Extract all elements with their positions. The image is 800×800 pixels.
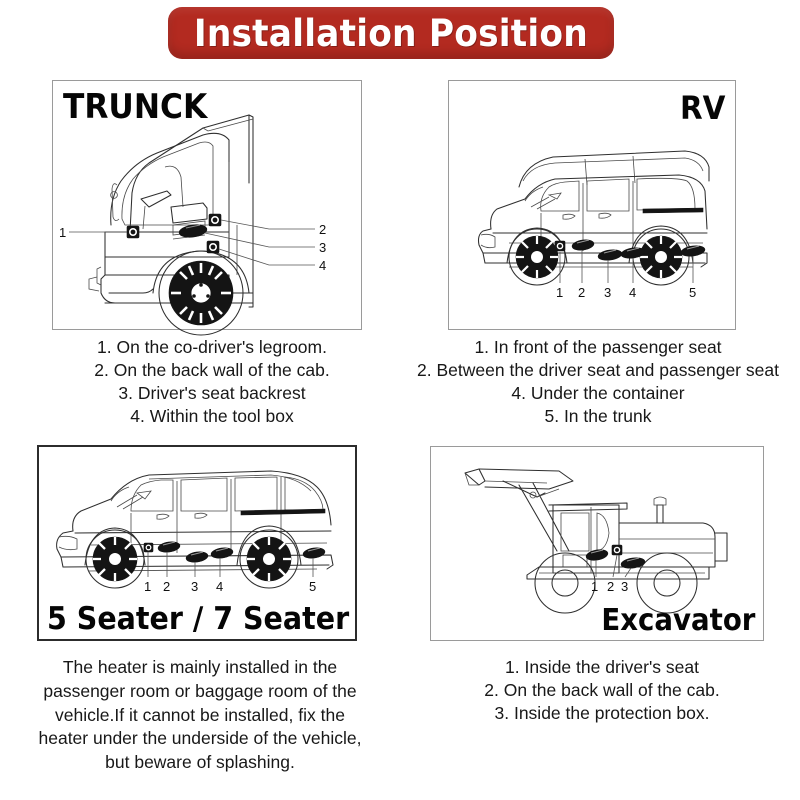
panel-truck-label: TRUNCK <box>63 87 207 127</box>
svg-text:2: 2 <box>607 579 614 594</box>
svg-text:2: 2 <box>163 579 170 594</box>
svg-text:3: 3 <box>604 285 611 300</box>
panel-excavator-label: Excavator <box>601 603 755 638</box>
marker-3: 3 <box>597 248 622 300</box>
truck-illustration: 1 2 3 4 <box>53 107 361 329</box>
caption-line: 1. Inside the driver's seat <box>432 656 772 679</box>
caption-line: 2. Between the driver seat and passenger… <box>400 359 796 382</box>
caption-excavator: 1. Inside the driver's seat 2. On the ba… <box>432 656 772 725</box>
svg-text:5: 5 <box>309 579 316 594</box>
caption-line: The heater is mainly installed in the pa… <box>30 656 370 775</box>
excavator-illustration: 1 2 3 <box>441 455 757 605</box>
marker-2: 2 <box>157 541 180 594</box>
marker-4: 4 <box>620 246 645 300</box>
caption-rv: 1. In front of the passenger seat 2. Bet… <box>400 336 796 428</box>
marker-1: 1 <box>555 241 565 300</box>
marker-2: 2 <box>571 239 594 300</box>
panel-rv: RV <box>448 80 736 330</box>
marker-2: 2 <box>209 214 326 237</box>
marker-1: 1 <box>585 548 608 594</box>
svg-text:3: 3 <box>191 579 198 594</box>
minivan-illustration: 1 2 3 4 <box>45 453 351 603</box>
rv-illustration: 1 2 3 4 <box>453 111 733 321</box>
page-title: Installation Position <box>194 12 588 55</box>
svg-text:3: 3 <box>621 579 628 594</box>
caption-line: 2. On the back wall of the cab. <box>52 359 372 382</box>
panel-rv-label: RV <box>680 89 725 127</box>
svg-text:1: 1 <box>59 225 66 240</box>
svg-text:4: 4 <box>629 285 636 300</box>
page-title-banner: Installation Position <box>168 7 614 59</box>
caption-line: 4. Within the tool box <box>52 405 372 428</box>
caption-line: 3. Inside the protection box. <box>432 702 772 725</box>
caption-line: 5. In the trunk <box>400 405 796 428</box>
panel-excavator: Excavator <box>430 446 764 641</box>
marker-5: 5 <box>302 547 325 594</box>
caption-line: 1. On the co-driver's legroom. <box>52 336 372 359</box>
svg-text:3: 3 <box>319 240 326 255</box>
svg-text:4: 4 <box>216 579 223 594</box>
svg-text:1: 1 <box>591 579 598 594</box>
caption-line: 1. In front of the passenger seat <box>400 336 796 359</box>
caption-line: 4. Under the container <box>400 382 796 405</box>
caption-line: 2. On the back wall of the cab. <box>432 679 772 702</box>
caption-minivan: The heater is mainly installed in the pa… <box>30 656 370 775</box>
svg-text:2: 2 <box>578 285 585 300</box>
marker-3: 3 <box>620 556 645 594</box>
panel-truck: TRUNCK <box>52 80 362 330</box>
installation-position-infographic: { "header": { "title": "Installation Pos… <box>0 0 800 800</box>
marker-2: 2 <box>607 545 622 594</box>
marker-1: 1 <box>59 225 139 240</box>
svg-text:1: 1 <box>144 579 151 594</box>
caption-line: 3. Driver's seat backrest <box>52 382 372 405</box>
panel-minivan: 5 Seater / 7 Seater <box>37 445 357 641</box>
svg-text:2: 2 <box>319 222 326 237</box>
panel-minivan-label: 5 Seater / 7 Seater <box>47 601 349 637</box>
marker-3: 3 <box>178 223 326 255</box>
svg-text:1: 1 <box>556 285 563 300</box>
marker-3: 3 <box>185 551 208 594</box>
svg-text:4: 4 <box>319 258 326 273</box>
caption-truck: 1. On the co-driver's legroom. 2. On the… <box>52 336 372 428</box>
marker-1: 1 <box>144 543 153 594</box>
svg-text:5: 5 <box>689 285 696 300</box>
